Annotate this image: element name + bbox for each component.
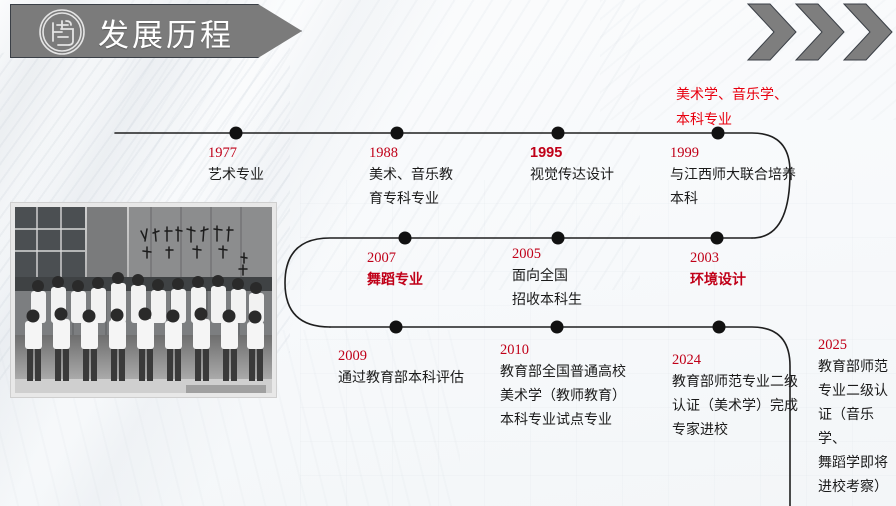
entry-highlight-note: 美术学、音乐学、 本科专业 — [676, 83, 788, 133]
chevron-right-icon — [748, 4, 796, 60]
entry-description: 通过教育部本科评估 — [338, 366, 464, 390]
entry-year: 2010 — [500, 340, 626, 360]
entry-year: 1977 — [208, 143, 264, 163]
entry-year: 2025 — [818, 335, 896, 355]
entry-year: 2009 — [338, 346, 464, 366]
timeline-note-1999: 美术学、音乐学、 本科专业 — [676, 83, 788, 133]
timeline-entry-2007[interactable]: 2007 舞蹈专业 — [367, 248, 423, 292]
entry-description: 视觉传达设计 — [530, 163, 614, 187]
timeline-node — [711, 232, 724, 245]
page-title: 发展历程 — [98, 10, 234, 55]
chevron-right-icon — [796, 4, 844, 60]
entry-description: 环境设计 — [690, 268, 746, 292]
timeline-node — [713, 321, 726, 334]
entry-year: 1995 — [530, 143, 614, 163]
entry-description: 教育部全国普通高校 美术学（教师教育） 本科专业试点专业 — [500, 360, 626, 432]
timeline-node — [230, 127, 243, 140]
timeline-entry-2024[interactable]: 2024 教育部师范专业二级 认证（美术学）完成 专家进校 — [672, 350, 798, 442]
entry-year: 2003 — [690, 248, 746, 268]
entry-year: 1988 — [369, 143, 453, 163]
timeline-entry-1977[interactable]: 1977 艺术专业 — [208, 143, 264, 187]
slide-canvas: 发展历程 — [0, 0, 896, 506]
timeline-node — [399, 232, 412, 245]
timeline-node — [390, 321, 403, 334]
entry-year: 2024 — [672, 350, 798, 370]
timeline-node — [391, 127, 404, 140]
timeline-entry-2005[interactable]: 2005 面向全国 招收本科生 — [512, 244, 582, 312]
entry-description: 面向全国 招收本科生 — [512, 264, 582, 312]
chevron-arrow-group — [740, 0, 896, 64]
timeline-node-group — [230, 127, 726, 334]
entry-description: 美术、音乐教 育专科专业 — [369, 163, 453, 211]
historic-class-photo — [10, 202, 277, 398]
entry-description: 教育部师范 专业二级认 证（音乐学、 舞蹈学即将 进校考察） — [818, 355, 896, 499]
timeline-entry-2010[interactable]: 2010 教育部全国普通高校 美术学（教师教育） 本科专业试点专业 — [500, 340, 626, 432]
timeline-node — [552, 232, 565, 245]
entry-description: 舞蹈专业 — [367, 268, 423, 292]
timeline-entry-2003[interactable]: 2003 环境设计 — [690, 248, 746, 292]
entry-description: 艺术专业 — [208, 163, 264, 187]
entry-year: 1999 — [670, 143, 796, 163]
timeline-node — [552, 127, 565, 140]
entry-year: 2007 — [367, 248, 423, 268]
entry-description: 教育部师范专业二级 认证（美术学）完成 专家进校 — [672, 370, 798, 442]
university-seal-icon — [28, 7, 96, 57]
timeline-entry-1999[interactable]: 1999 与江西师大联合培养 本科 — [670, 143, 796, 211]
slide-header: 发展历程 — [10, 4, 302, 58]
entry-year: 2005 — [512, 244, 582, 264]
entry-description: 与江西师大联合培养 本科 — [670, 163, 796, 211]
timeline-entry-1995[interactable]: 1995 视觉传达设计 — [530, 143, 614, 187]
timeline-entry-1988[interactable]: 1988 美术、音乐教 育专科专业 — [369, 143, 453, 211]
timeline-node — [551, 321, 564, 334]
chevron-right-icon — [844, 4, 892, 60]
timeline-entry-2025[interactable]: 2025 教育部师范 专业二级认 证（音乐学、 舞蹈学即将 进校考察） — [818, 335, 896, 499]
timeline-entry-2009[interactable]: 2009 通过教育部本科评估 — [338, 346, 464, 390]
